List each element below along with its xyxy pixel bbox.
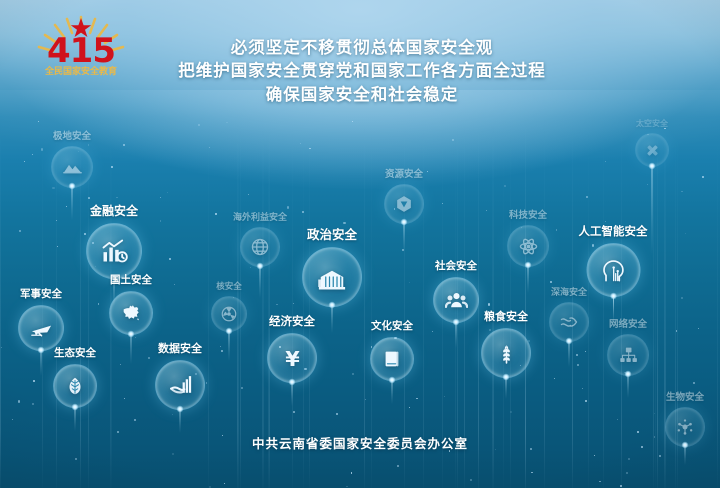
security-node-bubble-deepsea[interactable] bbox=[549, 302, 589, 342]
security-node-stem-social bbox=[456, 322, 457, 348]
security-awareness-poster: 415 全民国家安全教育 必须坚定不移贯彻总体国家安全观 把维护国家安全贯穿党和… bbox=[0, 0, 720, 488]
security-node-label-data: 数据安全 bbox=[155, 340, 205, 356]
security-node-stem-polar bbox=[72, 186, 73, 220]
security-node-stem-space bbox=[652, 166, 653, 254]
security-node-polar[interactable]: 极地安全 bbox=[51, 128, 93, 188]
security-node-label-ai: 人工智能安全 bbox=[579, 223, 648, 239]
security-node-financial[interactable]: 金融安全 bbox=[86, 202, 142, 279]
security-node-label-financial: 金融安全 bbox=[86, 202, 142, 219]
headline-line-2: 把维护国家安全贯穿党和国家工作各方面全过程 bbox=[150, 59, 574, 82]
bar-chart-icon bbox=[100, 237, 128, 265]
security-node-stem-military bbox=[41, 350, 42, 376]
security-node-bubble-food[interactable] bbox=[481, 328, 531, 378]
security-node-spark-data bbox=[177, 405, 184, 412]
security-node-spark-political bbox=[329, 301, 336, 308]
security-node-spark-ecological bbox=[72, 403, 79, 410]
security-node-label-social: 社会安全 bbox=[433, 258, 479, 273]
security-node-bubble-political[interactable] bbox=[302, 247, 362, 307]
security-node-label-deepsea: 深海安全 bbox=[549, 285, 589, 298]
svg-text:¥: ¥ bbox=[285, 346, 300, 370]
security-node-spark-social bbox=[453, 318, 460, 325]
security-node-deepsea[interactable]: 深海安全 bbox=[549, 285, 589, 342]
security-node-stem-nuclear bbox=[229, 331, 230, 361]
satellite-icon bbox=[644, 142, 661, 159]
security-node-spark-cultural bbox=[389, 376, 396, 383]
security-node-label-political: 政治安全 bbox=[302, 224, 362, 243]
security-node-economic[interactable]: 经济安全¥ bbox=[267, 313, 317, 383]
security-node-stem-homeland bbox=[131, 334, 132, 364]
security-node-bubble-ai[interactable] bbox=[586, 243, 640, 297]
security-node-resource[interactable]: 资源安全 bbox=[384, 166, 424, 224]
globe-icon bbox=[250, 237, 270, 257]
security-node-political[interactable]: 政治安全 bbox=[302, 224, 362, 307]
security-node-stem-deepsea bbox=[569, 341, 570, 367]
leaf-icon bbox=[64, 375, 86, 397]
security-node-spark-resource bbox=[401, 219, 408, 226]
security-node-stem-resource bbox=[404, 222, 405, 252]
security-node-bubble-technology[interactable] bbox=[507, 225, 549, 267]
security-node-bubble-financial[interactable] bbox=[86, 223, 142, 279]
security-node-label-space: 太空安全 bbox=[635, 118, 669, 129]
security-node-ecological[interactable]: 生态安全 bbox=[53, 345, 97, 408]
headline-line-1: 必须坚定不移贯彻总体国家安全观 bbox=[150, 36, 574, 59]
security-node-stem-economic bbox=[292, 382, 293, 406]
security-node-spark-technology bbox=[525, 262, 532, 269]
security-node-label-technology: 科技安全 bbox=[507, 207, 549, 221]
security-node-spark-polar bbox=[69, 183, 76, 190]
security-node-spark-nuclear bbox=[226, 327, 233, 334]
security-node-spark-economic bbox=[289, 379, 296, 386]
wheat-icon bbox=[494, 341, 519, 366]
atom-icon bbox=[518, 236, 539, 257]
security-node-cultural[interactable]: 文化安全 bbox=[370, 318, 414, 381]
security-node-nuclear[interactable]: 核安全 bbox=[211, 280, 247, 332]
deep-sea-icon bbox=[559, 312, 579, 332]
security-node-spark-homeland bbox=[128, 330, 135, 337]
security-node-stem-political bbox=[332, 305, 333, 333]
headline-block: 必须坚定不移贯彻总体国家安全观 把维护国家安全贯穿党和国家工作各方面全过程 确保… bbox=[150, 36, 574, 106]
ai-head-icon bbox=[600, 257, 627, 284]
logo-subtitle: 全民国家安全教育 bbox=[44, 65, 117, 77]
data-hand-icon bbox=[168, 373, 193, 398]
security-node-stem-overseas bbox=[259, 266, 260, 298]
security-node-food[interactable]: 粮食安全 bbox=[481, 308, 531, 378]
security-node-stem-cultural bbox=[392, 380, 393, 404]
security-node-stem-cyber bbox=[628, 374, 629, 398]
security-node-bubble-ecological[interactable] bbox=[53, 364, 97, 408]
security-node-bubble-cyber[interactable] bbox=[607, 334, 649, 376]
security-node-label-homeland: 国土安全 bbox=[109, 272, 153, 287]
security-node-homeland[interactable]: 国土安全 bbox=[109, 272, 153, 335]
security-node-stem-ecological bbox=[75, 407, 76, 431]
china-map-icon bbox=[120, 302, 142, 324]
yuan-icon: ¥ bbox=[280, 346, 305, 371]
security-node-label-cyber: 网络安全 bbox=[607, 316, 649, 330]
security-node-cyber[interactable]: 网络安全 bbox=[607, 316, 649, 376]
security-node-bubble-cultural[interactable] bbox=[370, 337, 414, 381]
security-node-spark-food bbox=[503, 373, 510, 380]
network-icon bbox=[618, 345, 639, 366]
security-node-bubble-overseas[interactable] bbox=[240, 227, 280, 267]
security-node-label-ecological: 生态安全 bbox=[53, 345, 97, 360]
security-node-data[interactable]: 数据安全 bbox=[155, 340, 205, 410]
security-node-label-nuclear: 核安全 bbox=[211, 280, 247, 292]
security-node-stem-data bbox=[180, 409, 181, 433]
security-node-social[interactable]: 社会安全 bbox=[433, 258, 479, 323]
security-node-spark-space bbox=[649, 163, 656, 170]
security-node-space[interactable]: 太空安全 bbox=[635, 118, 669, 167]
security-node-label-military: 军事安全 bbox=[18, 286, 64, 301]
security-node-spark-military bbox=[38, 346, 45, 353]
national-security-education-day-logo: 415 全民国家安全教育 bbox=[22, 12, 140, 78]
security-node-bubble-polar[interactable] bbox=[51, 146, 93, 188]
security-node-label-overseas: 海外利益安全 bbox=[233, 210, 287, 223]
security-node-label-food: 粮食安全 bbox=[481, 308, 531, 324]
security-node-bubble-social[interactable] bbox=[433, 277, 479, 323]
security-node-spark-overseas bbox=[256, 262, 263, 269]
security-node-stem-technology bbox=[528, 265, 529, 293]
book-icon bbox=[381, 348, 403, 370]
radiation-icon bbox=[220, 305, 238, 323]
building-icon bbox=[317, 262, 347, 292]
security-node-label-resource: 资源安全 bbox=[384, 166, 424, 180]
security-node-label-polar: 极地安全 bbox=[51, 128, 93, 142]
security-node-label-economic: 经济安全 bbox=[267, 313, 317, 329]
footer-organization: 中共云南省委国家安全委员会办公室 bbox=[0, 433, 720, 452]
security-node-technology[interactable]: 科技安全 bbox=[507, 207, 549, 267]
security-node-overseas[interactable]: 海外利益安全 bbox=[233, 210, 287, 267]
security-node-military[interactable]: 军事安全 bbox=[18, 286, 64, 351]
security-node-spark-cyber bbox=[625, 371, 632, 378]
people-icon bbox=[445, 289, 468, 312]
security-node-label-cultural: 文化安全 bbox=[370, 318, 414, 333]
resource-icon bbox=[394, 194, 414, 214]
security-node-bubble-data[interactable] bbox=[155, 360, 205, 410]
security-node-spark-ai bbox=[610, 293, 617, 300]
security-node-label-biological: 生物安全 bbox=[665, 389, 705, 403]
security-node-bubble-homeland[interactable] bbox=[109, 291, 153, 335]
security-node-spark-deepsea bbox=[566, 337, 573, 344]
airplane-icon bbox=[30, 317, 53, 340]
headline-line-3: 确保国家安全和社会稳定 bbox=[150, 83, 574, 106]
security-node-bubble-economic[interactable]: ¥ bbox=[267, 333, 317, 383]
mountain-icon bbox=[62, 157, 83, 178]
